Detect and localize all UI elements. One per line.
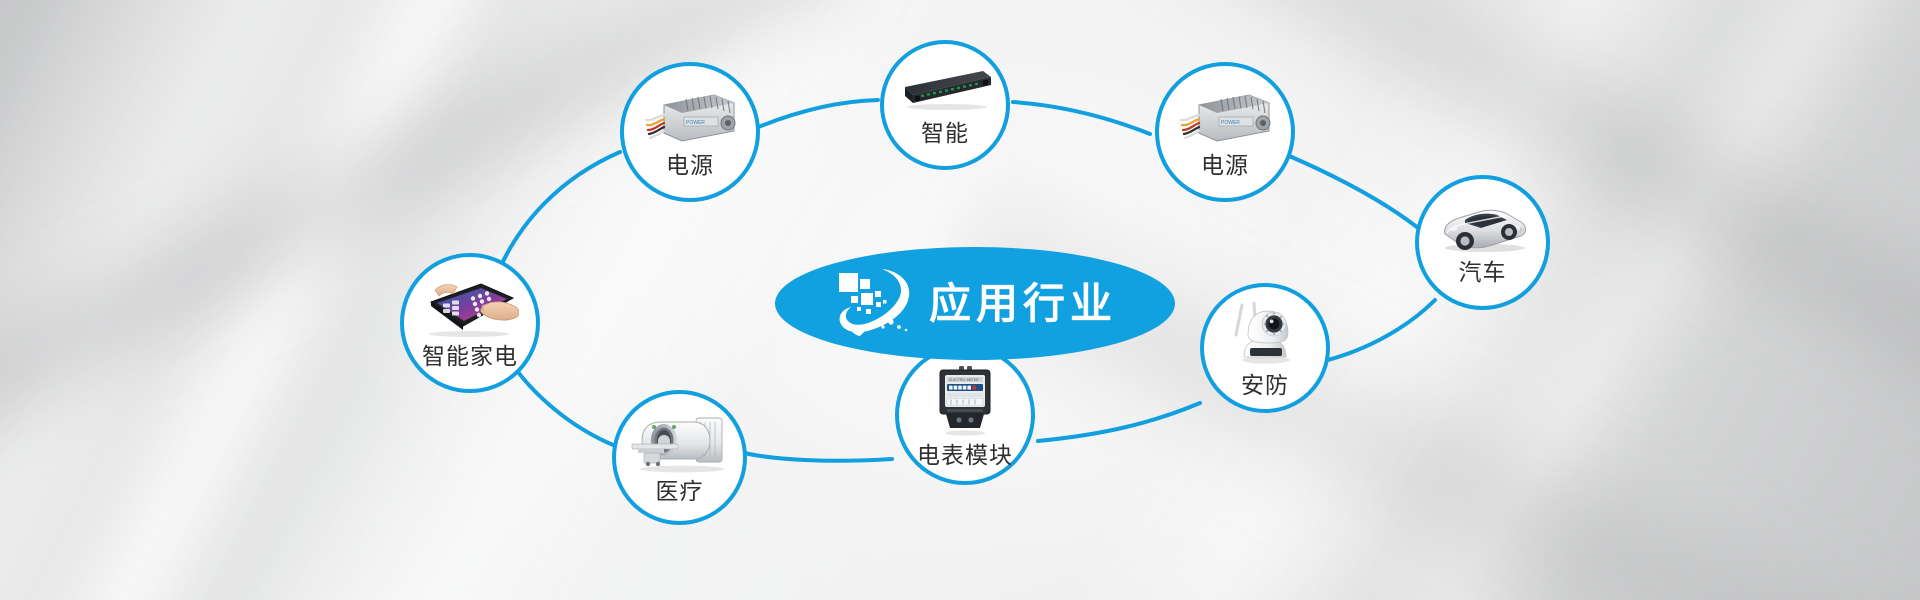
node-automotive[interactable]: 汽车: [1415, 175, 1550, 310]
connector-power-right-to-automotive: [1287, 155, 1436, 243]
svg-text:ELECTRIC METER: ELECTRIC METER: [949, 378, 979, 382]
sports-car-icon: [1435, 201, 1531, 253]
connector-security-to-meter: [1038, 403, 1200, 441]
node-label: 智能: [921, 122, 969, 145]
node-label: 电表模块: [917, 444, 1013, 467]
pc-power-supply-unit-icon: POWER: [1179, 87, 1271, 145]
node-label: 电源: [666, 154, 714, 177]
industry-application-diagram: POWER 电源: [0, 0, 1920, 600]
node-smart[interactable]: 智能: [880, 40, 1010, 170]
svg-text:POWER: POWER: [686, 120, 705, 126]
connector-smart-home-to-power-left: [498, 152, 620, 272]
connector-automotive-to-security: [1320, 300, 1435, 362]
node-label: 智能家电: [422, 345, 518, 368]
connector-power-left-to-smart: [756, 100, 878, 128]
node-label: 电源: [1201, 154, 1249, 177]
node-smart-home[interactable]: 智能家电: [400, 253, 540, 393]
connector-meter-to-medical: [740, 452, 892, 461]
center-badge[interactable]: 应用行业: [775, 247, 1175, 360]
node-power-supply-left[interactable]: POWER 电源: [620, 62, 760, 202]
mri-ct-scanner-icon: [630, 413, 730, 473]
ip-security-camera-icon: [1228, 299, 1302, 365]
node-label: 安防: [1241, 374, 1289, 397]
tablet-touch-hand-icon: [421, 278, 519, 338]
node-meter-module[interactable]: ELECTRIC METER 电表模块: [895, 345, 1035, 485]
center-badge-label: 应用行业: [929, 283, 1117, 325]
rack-mount-server-icon: [897, 65, 993, 111]
node-power-supply-right[interactable]: POWER 电源: [1155, 62, 1295, 202]
pc-power-supply-unit-icon: POWER: [644, 87, 736, 145]
svg-text:POWER: POWER: [1221, 120, 1240, 126]
connector-smart-to-power-right: [1013, 102, 1150, 134]
node-medical[interactable]: 医疗: [612, 390, 747, 525]
pixel-orbit-swoosh-logo-icon: [833, 267, 915, 341]
node-label: 汽车: [1459, 261, 1507, 284]
electricity-meter-icon: ELECTRIC METER: [933, 364, 997, 436]
node-label: 医疗: [656, 480, 704, 503]
node-security[interactable]: 安防: [1200, 283, 1330, 413]
